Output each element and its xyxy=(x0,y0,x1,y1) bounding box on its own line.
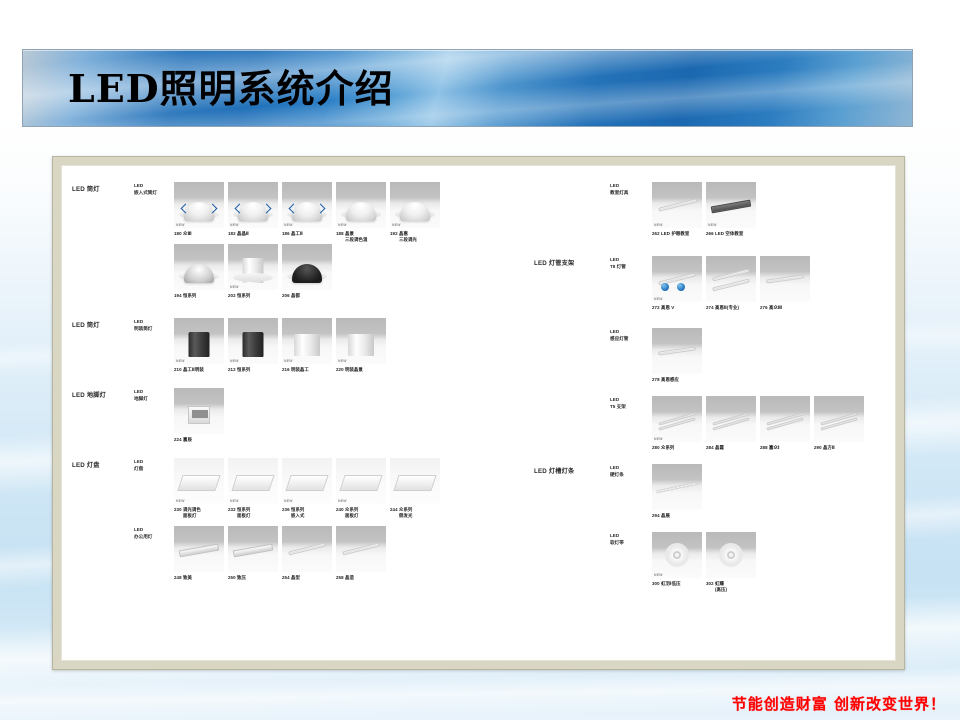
product-thumbnail xyxy=(760,256,810,302)
product-subcategory-line1: LED xyxy=(134,319,143,324)
product-subcategory-line1: LED xyxy=(610,183,619,188)
product-item[interactable]: 194 恒系列 xyxy=(174,244,224,299)
product-name: 高恩感应 xyxy=(661,377,679,382)
product-number: 300 xyxy=(652,581,661,586)
new-badge: NEW xyxy=(284,223,293,227)
product-subcategory-line2: 办公用灯 xyxy=(134,534,152,539)
led-dot-icon xyxy=(677,283,685,291)
product-name: 高恩Ⅱ(专业) xyxy=(715,305,739,310)
led-strip-reel-icon xyxy=(665,543,689,567)
product-name: 众系列 xyxy=(345,507,358,512)
product-caption: 194 恒系列 xyxy=(174,293,224,299)
product-thumbnail xyxy=(760,396,810,442)
product-subcategory-line2: 嵌入式筒灯 xyxy=(134,190,157,195)
product-name: 恒系列 xyxy=(237,367,250,372)
product-thumbnail xyxy=(814,396,864,442)
new-badge: NEW xyxy=(230,359,239,363)
product-item[interactable]: 288 嘉众Ⅰ xyxy=(760,396,810,451)
product-number: 232 xyxy=(228,507,237,512)
new-badge: NEW xyxy=(392,223,401,227)
product-name: 恒系列 xyxy=(183,293,196,298)
product-category-label: LED 筒灯 xyxy=(72,184,100,193)
product-name: 恒系列 xyxy=(237,293,250,298)
product-thumbnail: NEW xyxy=(390,182,440,228)
product-number: 240 xyxy=(336,507,345,512)
product-name: 高众Ⅲ xyxy=(769,305,782,310)
product-number: 288 xyxy=(760,445,769,450)
product-number: 192 xyxy=(390,231,399,236)
product-name: 晶惠 xyxy=(399,231,408,236)
product-subcategory-label: LED感应灯管 xyxy=(610,329,628,342)
new-badge: NEW xyxy=(654,297,663,301)
product-name: 调光调色 xyxy=(183,507,201,512)
product-item[interactable]: NEW212 恒系列 xyxy=(228,318,278,373)
product-number: 280 xyxy=(652,445,661,450)
product-thumbnail: NEW xyxy=(652,256,702,302)
product-name-secondary: 面板灯 xyxy=(228,513,278,519)
product-subcategory-line1: LED xyxy=(610,257,619,262)
product-subcategory-line1: LED xyxy=(610,397,619,402)
product-caption: 188 晶景三段调色温 xyxy=(336,231,386,243)
product-name: 虹羽Ⅰ低压 xyxy=(661,581,681,586)
product-number: 188 xyxy=(336,231,345,236)
product-thumbnail: NEW xyxy=(228,244,278,290)
product-thumbnail: NEW xyxy=(174,458,224,504)
product-caption: 262 LED 护眼教室 xyxy=(652,231,702,237)
product-thumbnail: NEW xyxy=(282,458,332,504)
product-subcategory-line2: 地脚灯 xyxy=(134,396,148,401)
product-number: 182 xyxy=(228,231,237,236)
product-thumbnail xyxy=(390,458,440,504)
product-name: 晶工Ⅱ xyxy=(291,231,303,236)
product-number: 194 xyxy=(174,293,183,298)
product-item[interactable]: 290 晶方Ⅱ xyxy=(814,396,864,451)
product-item[interactable]: NEW186 晶工Ⅱ xyxy=(282,182,332,243)
product-item[interactable]: NEW202 恒系列 xyxy=(228,244,278,299)
product-row: 294 晶展 xyxy=(652,464,702,519)
product-subcategory-line2: 硬灯条 xyxy=(610,472,624,477)
product-name: 晶工Ⅱ明装 xyxy=(183,367,204,372)
product-row: NEW210 晶工Ⅱ明装NEW212 恒系列NEW216 明装晶工NEW220 … xyxy=(174,318,386,373)
product-subcategory-label: LED嵌入式筒灯 xyxy=(134,183,157,196)
product-number: 284 xyxy=(706,445,715,450)
product-item[interactable]: 278 高恩感应 xyxy=(652,328,702,383)
product-category-label: LED 筒灯 xyxy=(72,320,100,329)
product-thumbnail: NEW xyxy=(174,182,224,228)
product-subcategory-line2: 教室灯具 xyxy=(610,190,628,195)
product-number: 250 xyxy=(228,575,237,580)
product-item[interactable]: NEW182 晶晶Ⅱ xyxy=(228,182,278,243)
product-name: 晶晶Ⅱ xyxy=(237,231,249,236)
product-thumbnail xyxy=(706,256,756,302)
product-item[interactable]: 248 致美 xyxy=(174,526,224,581)
new-badge: NEW xyxy=(176,499,185,503)
product-caption: 302 虹耀(高压) xyxy=(706,581,756,593)
product-number: 220 xyxy=(336,367,345,372)
product-item[interactable]: 284 晶霞 xyxy=(706,396,756,451)
new-badge: NEW xyxy=(230,285,239,289)
product-subcategory-label: LED软灯带 xyxy=(610,533,624,546)
product-name: 明装晶工 xyxy=(291,367,309,372)
product-caption: 230 调光调色面板灯 xyxy=(174,507,224,519)
product-number: 262 xyxy=(652,231,661,236)
product-name-secondary: 侧发光 xyxy=(390,513,440,519)
product-subcategory-line1: LED xyxy=(610,465,619,470)
product-thumbnail: NEW xyxy=(336,182,386,228)
product-number: 290 xyxy=(814,445,823,450)
product-item[interactable]: 206 晶都 xyxy=(282,244,332,299)
product-caption: 274 高恩Ⅱ(专业) xyxy=(706,305,756,311)
product-number: 258 xyxy=(336,575,345,580)
product-item[interactable]: NEW300 虹羽Ⅰ低压 xyxy=(652,532,702,593)
product-thumbnail xyxy=(174,388,224,434)
product-thumbnail: NEW xyxy=(228,182,278,228)
product-number: 248 xyxy=(174,575,183,580)
product-item[interactable]: 274 高恩Ⅱ(专业) xyxy=(706,256,756,311)
product-subcategory-line1: LED xyxy=(610,329,619,334)
product-thumbnail: NEW xyxy=(336,318,386,364)
product-caption: 288 嘉众Ⅰ xyxy=(760,445,810,451)
product-caption: 240 众系列面板灯 xyxy=(336,507,386,519)
new-badge: NEW xyxy=(338,223,347,227)
product-category-label: LED 灯盘 xyxy=(72,460,100,469)
product-category-label: LED 地脚灯 xyxy=(72,390,106,399)
product-caption: 300 虹羽Ⅰ低压 xyxy=(652,581,702,587)
product-caption: 254 晶型 xyxy=(282,575,332,581)
new-badge: NEW xyxy=(654,573,663,577)
product-thumbnail: NEW xyxy=(652,396,702,442)
product-thumbnail: NEW xyxy=(228,458,278,504)
product-name-secondary: 三段调色温 xyxy=(336,237,386,243)
product-subcategory-label: LEDT5 支架 xyxy=(610,397,626,410)
product-name-secondary: (高压) xyxy=(706,587,756,593)
product-item[interactable]: NEW240 众系列面板灯 xyxy=(336,458,386,519)
new-badge: NEW xyxy=(230,499,239,503)
product-row: NEW300 虹羽Ⅰ低压302 虹耀(高压) xyxy=(652,532,756,593)
product-item[interactable]: NEW192 晶惠三段调光 xyxy=(390,182,440,243)
product-subcategory-label: LED办公用灯 xyxy=(134,527,152,540)
footer-slogan: 节能创造财富 创新改变世界！ xyxy=(732,693,946,714)
product-number: 254 xyxy=(282,575,291,580)
product-name: LED 护眼教室 xyxy=(661,231,689,236)
product-name: 众Ⅲ xyxy=(183,231,192,236)
product-name: LED 空体教室 xyxy=(715,231,743,236)
product-thumbnail xyxy=(706,532,756,578)
product-number: 272 xyxy=(652,305,661,310)
product-caption: 278 高恩感应 xyxy=(652,377,702,383)
product-name: 晶展 xyxy=(661,513,670,518)
product-name: 晶方Ⅱ xyxy=(823,445,835,450)
product-number: 276 xyxy=(760,305,769,310)
product-item[interactable]: NEW180 众Ⅲ xyxy=(174,182,224,243)
product-thumbnail: NEW xyxy=(282,318,332,364)
product-name: 晶霞 xyxy=(715,445,724,450)
title-banner: LED照明系统介绍 xyxy=(22,49,913,127)
product-name-secondary: 面板灯 xyxy=(174,513,224,519)
product-name: 高恩 V xyxy=(661,305,674,310)
product-thumbnail xyxy=(174,244,224,290)
product-name: 致美 xyxy=(183,575,192,580)
new-badge: NEW xyxy=(338,499,347,503)
product-name: 晶都 xyxy=(291,293,300,298)
product-thumbnail xyxy=(174,526,224,572)
product-number: 206 xyxy=(282,293,291,298)
product-caption: 280 众系列 xyxy=(652,445,702,451)
product-item[interactable]: NEW188 晶景三段调色温 xyxy=(336,182,386,243)
product-row: NEW280 众系列284 晶霞288 嘉众Ⅰ290 晶方Ⅱ xyxy=(652,396,864,451)
product-caption: 276 高众Ⅲ xyxy=(760,305,810,311)
product-item[interactable]: NEW232 恒系列面板灯 xyxy=(228,458,278,519)
product-name: 晶景 xyxy=(345,231,354,236)
product-caption: 212 恒系列 xyxy=(228,367,278,373)
led-dot-icon xyxy=(661,283,669,291)
product-caption: 210 晶工Ⅱ明装 xyxy=(174,367,224,373)
new-badge: NEW xyxy=(176,359,185,363)
product-subcategory-label: LED地脚灯 xyxy=(134,389,148,402)
product-item[interactable]: 224 嘉辰 xyxy=(174,388,224,443)
product-number: 230 xyxy=(174,507,183,512)
product-caption: 216 明装晶工 xyxy=(282,367,332,373)
product-subcategory-label: LED教室灯具 xyxy=(610,183,628,196)
product-category-label: LED 灯槽灯条 xyxy=(534,466,574,475)
product-thumbnail: NEW xyxy=(282,182,332,228)
new-badge: NEW xyxy=(176,223,185,227)
product-row: NEW180 众ⅢNEW182 晶晶ⅡNEW186 晶工ⅡNEW188 晶景三段… xyxy=(174,182,440,243)
new-badge: NEW xyxy=(338,359,347,363)
product-caption: 236 恒系列嵌入式 xyxy=(282,507,332,519)
product-caption: 186 晶工Ⅱ xyxy=(282,231,332,237)
product-name: 明装晶景 xyxy=(345,367,363,372)
product-item[interactable]: 250 致压 xyxy=(228,526,278,581)
product-subcategory-line1: LED xyxy=(134,527,143,532)
product-caption: 244 众系列侧发光 xyxy=(390,507,440,519)
product-subcategory-label: LED灯盘 xyxy=(134,459,143,472)
product-number: 202 xyxy=(228,293,237,298)
new-badge: NEW xyxy=(654,437,663,441)
product-number: 180 xyxy=(174,231,183,236)
product-name: 虹耀 xyxy=(715,581,724,586)
product-caption: 182 晶晶Ⅱ xyxy=(228,231,278,237)
product-thumbnail: NEW xyxy=(174,318,224,364)
product-number: 274 xyxy=(706,305,715,310)
product-row: NEW262 LED 护眼教室NEW266 LED 空体教室 xyxy=(652,182,756,237)
product-item[interactable]: NEW266 LED 空体教室 xyxy=(706,182,756,237)
product-subcategory-line2: 灯盘 xyxy=(134,466,143,471)
product-subcategory-line1: LED xyxy=(610,533,619,538)
new-badge: NEW xyxy=(654,223,663,227)
product-subcategory-label: LEDT8 灯管 xyxy=(610,257,626,270)
product-subcategory-line1: LED xyxy=(134,183,143,188)
product-thumbnail xyxy=(282,526,332,572)
product-category-label: LED 灯管支架 xyxy=(534,258,574,267)
product-caption: 250 致压 xyxy=(228,575,278,581)
product-row: NEW230 调光调色面板灯NEW232 恒系列面板灯NEW236 恒系列嵌入式… xyxy=(174,458,440,519)
product-thumbnail: NEW xyxy=(706,182,756,228)
catalog-frame: LED 筒灯LED嵌入式筒灯NEW180 众ⅢNEW182 晶晶ⅡNEW186 … xyxy=(52,156,905,670)
product-item[interactable]: 244 众系列侧发光 xyxy=(390,458,440,519)
product-number: 294 xyxy=(652,513,661,518)
product-subcategory-line1: LED xyxy=(134,389,143,394)
product-thumbnail xyxy=(706,396,756,442)
product-subcategory-line1: LED xyxy=(134,459,143,464)
product-item[interactable]: 276 高众Ⅲ xyxy=(760,256,810,311)
product-subcategory-line2: 感应灯管 xyxy=(610,336,628,341)
product-name: 致压 xyxy=(237,575,246,580)
product-thumbnail: NEW xyxy=(652,182,702,228)
product-item[interactable]: 302 虹耀(高压) xyxy=(706,532,756,593)
new-badge: NEW xyxy=(284,499,293,503)
product-name: 晶型 xyxy=(291,575,300,580)
product-name: 嘉众Ⅰ xyxy=(769,445,780,450)
product-item[interactable]: 254 晶型 xyxy=(282,526,332,581)
product-caption: 202 恒系列 xyxy=(228,293,278,299)
product-name: 恒系列 xyxy=(237,507,250,512)
product-caption: 192 晶惠三段调光 xyxy=(390,231,440,243)
product-thumbnail xyxy=(282,244,332,290)
product-item[interactable]: NEW220 明装晶景 xyxy=(336,318,386,373)
product-caption: 258 晶造 xyxy=(336,575,386,581)
product-number: 224 xyxy=(174,437,183,442)
product-subcategory-line2: 明装筒灯 xyxy=(134,326,152,331)
product-thumbnail xyxy=(228,526,278,572)
product-subcategory-line2: T8 灯管 xyxy=(610,264,626,269)
product-caption: 294 晶展 xyxy=(652,513,702,519)
product-item[interactable]: NEW236 恒系列嵌入式 xyxy=(282,458,332,519)
product-number: 210 xyxy=(174,367,183,372)
page-title: LED照明系统介绍 xyxy=(23,50,912,127)
product-item[interactable]: NEW272 高恩 V xyxy=(652,256,702,311)
product-item[interactable]: NEW230 调光调色面板灯 xyxy=(174,458,224,519)
product-thumbnail xyxy=(652,328,702,374)
product-caption: 248 致美 xyxy=(174,575,224,581)
product-thumbnail: NEW xyxy=(336,458,386,504)
product-caption: 232 恒系列面板灯 xyxy=(228,507,278,519)
product-thumbnail xyxy=(336,526,386,572)
product-name: 嘉辰 xyxy=(183,437,192,442)
product-caption: 284 晶霞 xyxy=(706,445,756,451)
catalog-sheet: LED 筒灯LED嵌入式筒灯NEW180 众ⅢNEW182 晶晶ⅡNEW186 … xyxy=(61,165,896,661)
product-item[interactable]: NEW280 众系列 xyxy=(652,396,702,451)
product-caption: 224 嘉辰 xyxy=(174,437,224,443)
product-item[interactable]: 294 晶展 xyxy=(652,464,702,519)
product-number: 186 xyxy=(282,231,291,236)
product-number: 244 xyxy=(390,507,399,512)
product-number: 212 xyxy=(228,367,237,372)
product-caption: 220 明装晶景 xyxy=(336,367,386,373)
product-thumbnail xyxy=(652,464,702,510)
product-caption: 180 众Ⅲ xyxy=(174,231,224,237)
new-badge: NEW xyxy=(708,223,717,227)
product-item[interactable]: NEW216 明装晶工 xyxy=(282,318,332,373)
product-row: 278 高恩感应 xyxy=(652,328,702,383)
product-row: 224 嘉辰 xyxy=(174,388,224,443)
product-subcategory-label: LED明装筒灯 xyxy=(134,319,152,332)
product-caption: 206 晶都 xyxy=(282,293,332,299)
product-name-secondary: 嵌入式 xyxy=(282,513,332,519)
product-caption: 290 晶方Ⅱ xyxy=(814,445,864,451)
product-name: 恒系列 xyxy=(291,507,304,512)
product-thumbnail: NEW xyxy=(652,532,702,578)
product-name: 众系列 xyxy=(661,445,674,450)
product-subcategory-label: LED硬灯条 xyxy=(610,465,624,478)
product-item[interactable]: NEW262 LED 护眼教室 xyxy=(652,182,702,237)
product-name-secondary: 三段调光 xyxy=(390,237,440,243)
product-name: 晶造 xyxy=(345,575,354,580)
product-row: 194 恒系列NEW202 恒系列206 晶都 xyxy=(174,244,332,299)
product-item[interactable]: 258 晶造 xyxy=(336,526,386,581)
led-strip-reel-icon xyxy=(719,543,743,567)
product-number: 302 xyxy=(706,581,715,586)
product-row: NEW272 高恩 V274 高恩Ⅱ(专业)276 高众Ⅲ xyxy=(652,256,810,311)
product-number: 216 xyxy=(282,367,291,372)
product-caption: 266 LED 空体教室 xyxy=(706,231,756,237)
product-name-secondary: 面板灯 xyxy=(336,513,386,519)
product-number: 236 xyxy=(282,507,291,512)
product-thumbnail: NEW xyxy=(228,318,278,364)
product-name: 众系列 xyxy=(399,507,412,512)
product-number: 278 xyxy=(652,377,661,382)
product-caption: 272 高恩 V xyxy=(652,305,702,311)
product-subcategory-line2: 软灯带 xyxy=(610,540,624,545)
new-badge: NEW xyxy=(230,223,239,227)
product-subcategory-line2: T5 支架 xyxy=(610,404,626,409)
product-row: 248 致美250 致压254 晶型258 晶造 xyxy=(174,526,386,581)
new-badge: NEW xyxy=(284,359,293,363)
product-number: 266 xyxy=(706,231,715,236)
product-item[interactable]: NEW210 晶工Ⅱ明装 xyxy=(174,318,224,373)
